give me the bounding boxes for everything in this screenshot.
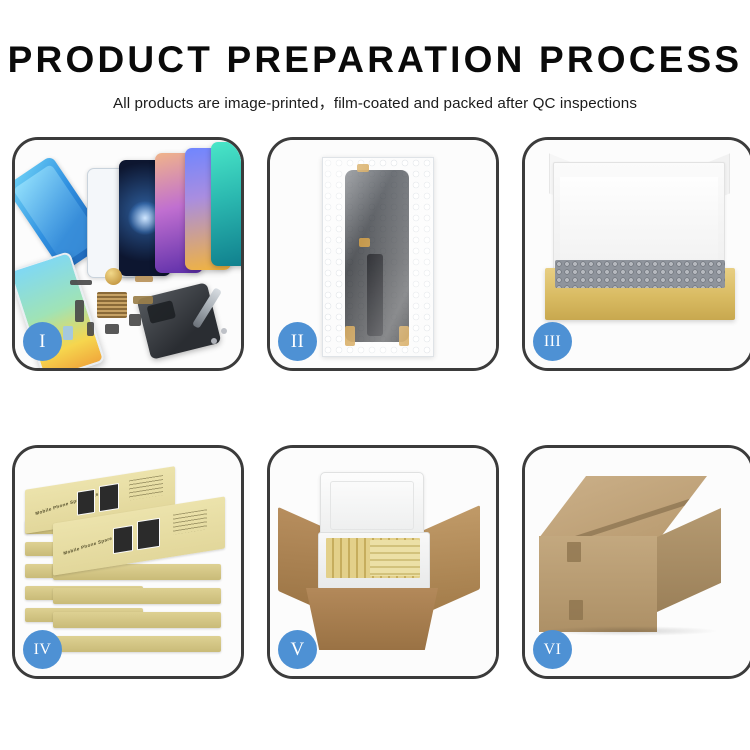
step-numeral-3: III — [544, 334, 561, 350]
box-window-front-2 — [137, 518, 160, 551]
part-cable-icon — [75, 300, 84, 322]
step-numeral-2: II — [291, 332, 304, 351]
header: PRODUCT PREPARATION PROCESS All products… — [0, 0, 750, 113]
step-badge-6: VI — [533, 630, 572, 669]
kraft-tray-icon — [545, 268, 735, 320]
carton-body-icon — [306, 588, 438, 650]
process-step-panel-6[interactable]: VI — [522, 445, 750, 679]
coil-part-icon — [105, 268, 122, 285]
process-step-panel-3[interactable]: III — [522, 137, 750, 371]
step-badge-1: I — [23, 322, 62, 361]
step-numeral-5: V — [290, 640, 304, 659]
phone-back-housing-icon — [137, 282, 222, 360]
box-window-front-1 — [113, 525, 133, 554]
bubble-wrapped-items-icon — [555, 260, 725, 288]
part-flex-icon — [135, 276, 153, 282]
bag-sheen-overlay — [323, 158, 433, 356]
part-sim-tray-icon — [63, 326, 73, 340]
chip-grid-part-icon — [97, 292, 127, 318]
step-badge-2: II — [278, 322, 317, 361]
step-numeral-1: I — [39, 332, 46, 351]
part-screw-2-icon — [211, 338, 217, 344]
step-numeral-6: VI — [544, 642, 562, 658]
phone-teal-icon — [211, 142, 244, 266]
step-numeral-4: IV — [34, 642, 52, 658]
page-title: PRODUCT PREPARATION PROCESS — [0, 0, 750, 80]
process-step-panel-1[interactable]: I — [12, 137, 244, 371]
box-window-rear-2 — [99, 483, 119, 512]
bubble-wrap-bag-icon — [322, 157, 434, 357]
product-preparation-infographic: PRODUCT PREPARATION PROCESS All products… — [0, 0, 750, 750]
carton-front-face — [539, 536, 657, 632]
carton-tape-upper — [567, 542, 581, 562]
part-button-icon — [87, 322, 94, 336]
box-white-lid-icon — [553, 162, 725, 276]
carton-ground-shadow — [541, 626, 719, 636]
part-camera-icon — [129, 314, 141, 326]
process-step-grid: I II — [12, 137, 738, 689]
step-badge-3: III — [533, 322, 572, 361]
box-spec-lines-rear — [129, 475, 163, 500]
part-screw-icon — [221, 328, 227, 334]
part-speaker-icon — [105, 324, 119, 334]
part-connector-icon — [133, 296, 153, 304]
stack-box-layer — [53, 636, 221, 652]
box-spec-lines-front — [173, 509, 207, 534]
step-badge-5: V — [278, 630, 317, 669]
process-step-panel-2[interactable]: II — [267, 137, 499, 371]
stack-box-layer — [53, 612, 221, 628]
process-step-panel-5[interactable]: V — [267, 445, 499, 679]
process-step-panel-4[interactable]: Mobile Phone Spare Parts Mobile Phone Sp… — [12, 445, 244, 679]
carton-tape-lower — [569, 600, 583, 620]
box-window-rear-1 — [77, 489, 95, 516]
step-badge-4: IV — [23, 630, 62, 669]
packed-boxes-secondary-icon — [370, 540, 420, 576]
stack-box-layer — [53, 588, 221, 604]
foam-box-lid-icon — [320, 472, 424, 540]
page-subtitle: All products are image-printed，film-coat… — [0, 80, 750, 113]
foam-sheet-icon — [560, 177, 718, 271]
part-strip-icon — [70, 280, 92, 285]
